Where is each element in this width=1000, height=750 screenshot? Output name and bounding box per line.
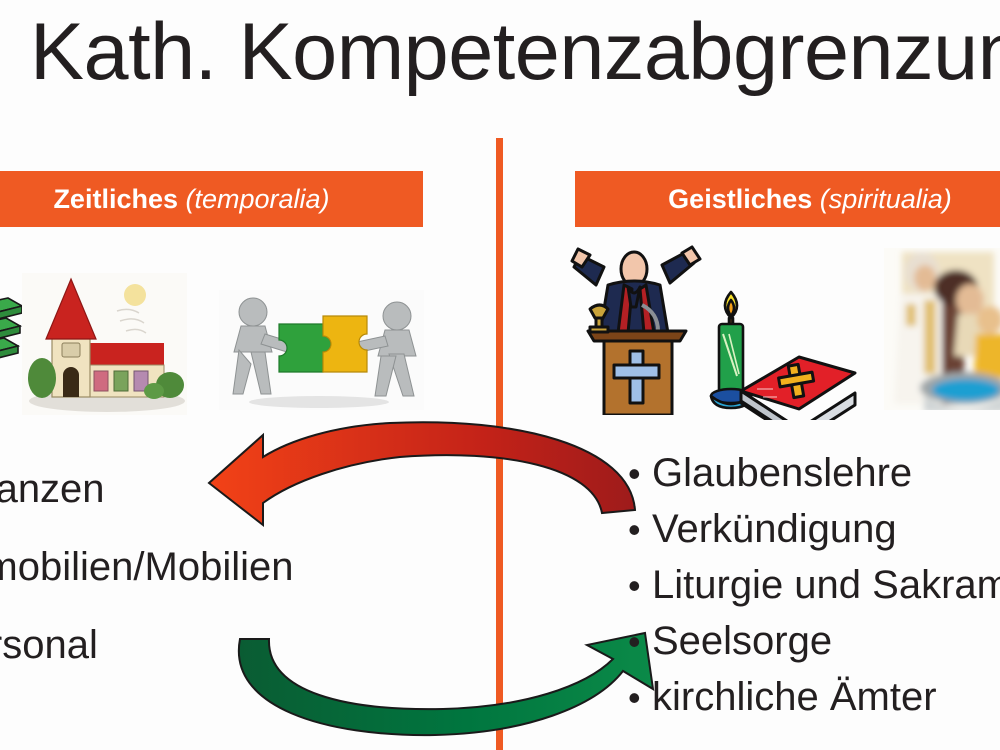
list-item: •Seelsorge	[628, 613, 1000, 669]
puzzle-pieces-image	[219, 290, 424, 410]
vertical-divider	[496, 138, 503, 750]
spiritual-items-list: •Glaubenslehre •Verkündigung •Liturgie u…	[628, 445, 1000, 725]
list-item-label: kirchliche Ämter	[652, 675, 937, 719]
list-item-label: Glaubenslehre	[652, 451, 912, 495]
column-header-right: Geistliches (spiritualia)	[575, 171, 1000, 227]
list-item-label: Verkündigung	[652, 507, 897, 551]
list-item: •kirchliche Ämter	[628, 669, 1000, 725]
list-item-label: Liturgie und Sakramente	[652, 563, 1000, 607]
list-item: •Liturgie und Sakramente	[628, 557, 1000, 613]
header-space	[812, 184, 820, 214]
church-building-image	[22, 273, 187, 415]
column-header-left-bold: Zeitliches	[53, 184, 178, 214]
column-header-right-bold: Geistliches	[668, 184, 812, 214]
header-space	[178, 184, 186, 214]
list-item: Finanzen	[0, 450, 400, 528]
bullet-icon: •	[628, 670, 652, 725]
temporal-items-list: Finanzen Immobilien/Mobilien Personal	[0, 450, 400, 684]
list-item-label: Seelsorge	[652, 619, 832, 663]
column-header-right-italic: (spiritualia)	[820, 184, 952, 214]
bible-image	[735, 345, 865, 420]
slide-canvas: Kath. Kompetenzabgrenzung Zeitliches (te…	[0, 0, 1000, 750]
list-item: Immobilien/Mobilien	[0, 528, 400, 606]
list-item: •Verkündigung	[628, 501, 1000, 557]
list-item: •Glaubenslehre	[628, 445, 1000, 501]
bullet-icon: •	[628, 614, 652, 669]
column-header-left-italic: (temporalia)	[186, 184, 330, 214]
preacher-pulpit-image	[560, 243, 715, 415]
bullet-icon: •	[628, 558, 652, 613]
column-header-left: Zeitliches (temporalia)	[0, 171, 423, 227]
bullet-icon: •	[628, 446, 652, 501]
list-item: Personal	[0, 606, 400, 684]
bullet-icon: •	[628, 502, 652, 557]
page-title: Kath. Kompetenzabgrenzung	[30, 4, 990, 100]
baptism-photo-image	[884, 248, 1000, 410]
